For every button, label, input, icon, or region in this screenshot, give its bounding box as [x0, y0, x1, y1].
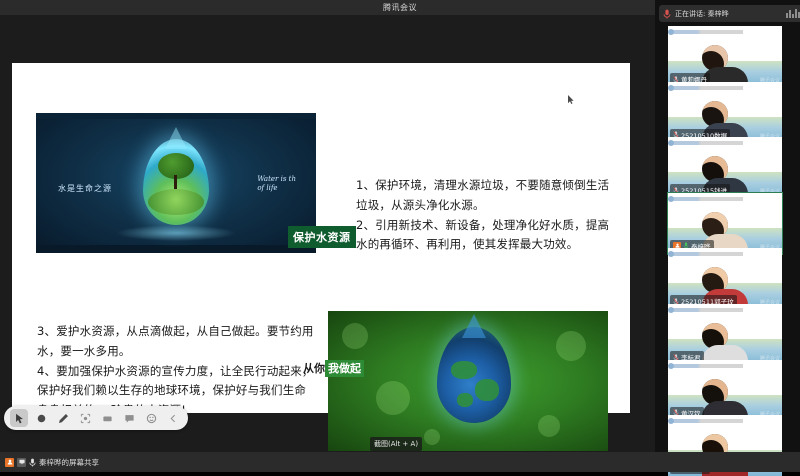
- comment-tool[interactable]: [120, 409, 138, 427]
- participant-tile[interactable]: 黄莉娜丹 腾讯会议: [668, 26, 782, 87]
- collapse-toolbar-button[interactable]: [164, 409, 182, 427]
- image-caption-cn: 水是生命之源: [58, 183, 112, 194]
- bokeh-circle: [538, 415, 560, 437]
- bokeh-circle: [376, 381, 410, 415]
- participant-tile[interactable]: 李标君 腾讯会议: [668, 304, 782, 365]
- protect-water-label: 保护水资源: [288, 226, 356, 248]
- continent-shape: [457, 393, 473, 407]
- background-slide-header: [673, 364, 743, 368]
- label-highlight-part: 我做起: [325, 360, 364, 377]
- background-slide-header: [673, 86, 743, 90]
- active-speaker-bar: 正在讲话: 秦梓晔: [659, 5, 800, 22]
- image-bottom-band: [36, 245, 316, 253]
- shared-document: 水是生命之源 Water is th of life 保护水资源 1、保护环境，…: [12, 63, 630, 413]
- slide-text-right: 1、保护环境，清理水源垃圾，不要随意倾倒生活垃圾，从源头净化水源。 2、引用新技…: [356, 176, 618, 255]
- continent-shape: [475, 379, 499, 401]
- background-slide-header: [673, 141, 743, 145]
- mouse-cursor-icon: [568, 95, 574, 104]
- spotlight-tool[interactable]: [76, 409, 94, 427]
- tencent-meeting-window: 腾讯会议 — □ ✕ 水是生命之源 Water is th of li: [0, 0, 800, 472]
- window-title: 腾讯会议: [383, 2, 417, 13]
- annotation-toolbar[interactable]: [4, 406, 188, 430]
- screen-share-icon: [17, 458, 26, 467]
- participant-tile[interactable]: 25210511郭子玟 腾讯会议: [668, 248, 782, 309]
- microphone-icon: [663, 9, 671, 19]
- from-you-and-me-label: 从你我做起: [303, 360, 364, 376]
- continent-shape: [451, 361, 477, 379]
- participant-tile[interactable]: 秦梓晔 腾讯会议: [668, 193, 782, 254]
- bokeh-circle: [424, 429, 440, 445]
- taskbar[interactable]: 秦梓晔的屏幕共享: [0, 452, 800, 472]
- microphone-icon: [29, 458, 36, 467]
- shared-screen-stage: 水是生命之源 Water is th of life 保护水资源 1、保护环境，…: [0, 15, 655, 452]
- participant-rail[interactable]: 正在讲话: 秦梓晔 黄莉娜丹 腾讯会议: [655, 0, 800, 472]
- image-top-band: [36, 113, 316, 119]
- active-speaker-label: 正在讲话: 秦梓晔: [675, 9, 729, 19]
- image-caption-en: Water is th of life: [257, 175, 296, 194]
- tree-icon: [156, 153, 196, 193]
- shape-tool[interactable]: [32, 409, 50, 427]
- pen-tool[interactable]: [54, 409, 72, 427]
- cursor-select-tool[interactable]: [10, 409, 28, 427]
- bokeh-circle: [342, 323, 368, 349]
- eraser-tool[interactable]: [98, 409, 116, 427]
- screen-share-taskbar-item[interactable]: 秦梓晔的屏幕共享: [0, 452, 104, 472]
- background-slide-header: [673, 197, 743, 201]
- background-slide-header: [673, 30, 743, 34]
- label-plain-part: 从你: [303, 362, 325, 375]
- screen-share-label: 秦梓晔的屏幕共享: [39, 457, 99, 468]
- participant-tile[interactable]: 25210515钱进 腾讯会议: [668, 137, 782, 198]
- emoji-tool[interactable]: [142, 409, 160, 427]
- glow-halo: [116, 225, 236, 241]
- green-earth-drop-image: [328, 311, 608, 451]
- participant-tile[interactable]: 25210510数据 腾讯会议: [668, 82, 782, 143]
- background-slide-header: [673, 252, 743, 256]
- bokeh-circle: [556, 331, 586, 361]
- screenshot-shortcut-hint: 截图(Alt + A): [370, 437, 422, 451]
- background-slide-header: [673, 308, 743, 312]
- background-slide-header: [673, 419, 743, 423]
- audio-wave-icon: [786, 9, 800, 18]
- earth-water-drop-shape: [437, 327, 511, 423]
- participant-icon: [5, 458, 14, 467]
- water-drop-shape: [143, 139, 209, 225]
- participant-tile[interactable]: 黄汉钦 腾讯会议: [668, 360, 782, 421]
- water-globe-image: 水是生命之源 Water is th of life: [36, 113, 316, 253]
